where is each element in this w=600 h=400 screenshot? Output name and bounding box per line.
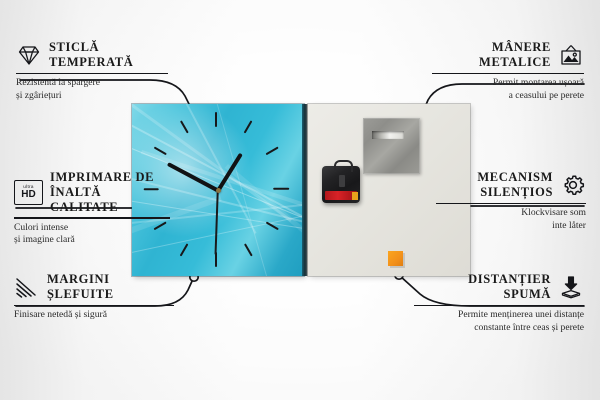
callout-subtitle: Klockvisare som inte låter: [436, 207, 586, 232]
callout-subtitle: Permit montarea ușoară a ceasului pe per…: [432, 77, 584, 102]
callout-margini-slefuite: MARGINI ȘLEFUITE Finisare netedă și sigu…: [14, 272, 174, 322]
clock-tick: [180, 243, 189, 256]
callout-title: STICLĂ TEMPERATĂ: [49, 40, 133, 70]
mechanism-hanging-loop: [334, 160, 353, 172]
picture-hanger-icon: [558, 43, 584, 67]
clock-tick: [215, 112, 217, 127]
callout-subtitle: Rezistentă la spargere și zgâriețuri: [16, 77, 168, 102]
diamond-icon: [16, 43, 42, 67]
callout-distantier-spuma: DISTANȚIER SPUMĂ Permite menținerea unei…: [414, 272, 584, 334]
battery-terminal: [352, 192, 358, 200]
clock-tick: [244, 120, 253, 133]
callout-subtitle: Permite menținerea unei distanțe constan…: [414, 309, 584, 334]
silent-clock-mechanism: [322, 166, 360, 203]
callout-title: MECANISM SILENȚIOS: [477, 170, 553, 200]
polished-edges-icon: [14, 275, 40, 299]
callout-rule: [16, 73, 168, 75]
callout-title: DISTANȚIER SPUMĂ: [468, 272, 551, 302]
metal-hanger-plate: [363, 118, 420, 174]
callout-subtitle: Finisare netedă și sigură: [14, 309, 174, 321]
gear-icon: [560, 173, 586, 197]
foam-spacer-icon: [558, 275, 584, 299]
clock-center-pin: [216, 188, 221, 193]
callout-sticla-temperata: STICLĂ TEMPERATĂ Rezistentă la spargere …: [16, 40, 168, 102]
callout-mecanism-silentios: MECANISM SILENȚIOS Klockvisare som inte …: [436, 170, 586, 232]
clock-tick: [244, 243, 253, 256]
callout-title: MÂNERE METALICE: [479, 40, 551, 70]
callout-rule: [436, 203, 586, 205]
callout-rule: [14, 217, 170, 219]
clock-tick: [273, 188, 289, 190]
clock-tick: [180, 120, 189, 133]
product-image: [132, 104, 470, 276]
mechanism-shaft: [339, 175, 345, 187]
callout-subtitle: Culori intense și imagine clară: [14, 222, 170, 247]
callout-title: MARGINI ȘLEFUITE: [47, 272, 114, 302]
infographic-canvas: STICLĂ TEMPERATĂ Rezistentă la spargere …: [0, 0, 600, 400]
foam-spacer: [388, 251, 403, 266]
callout-rule: [432, 73, 584, 75]
callout-imprimare-inalta-calitate: ultra HD IMPRIMARE DE ÎNALTĂ CALITATE Cu…: [14, 170, 170, 247]
callout-rule: [14, 305, 174, 307]
callout-rule: [414, 305, 584, 307]
ultra-hd-icon: ultra HD: [14, 180, 43, 205]
hanger-keyhole-slot: [372, 131, 404, 139]
clock-tick: [266, 146, 279, 155]
callout-manere-metalice: MÂNERE METALICE Permit montarea ușoară a…: [432, 40, 584, 102]
callout-title: IMPRIMARE DE ÎNALTĂ CALITATE: [50, 170, 170, 214]
